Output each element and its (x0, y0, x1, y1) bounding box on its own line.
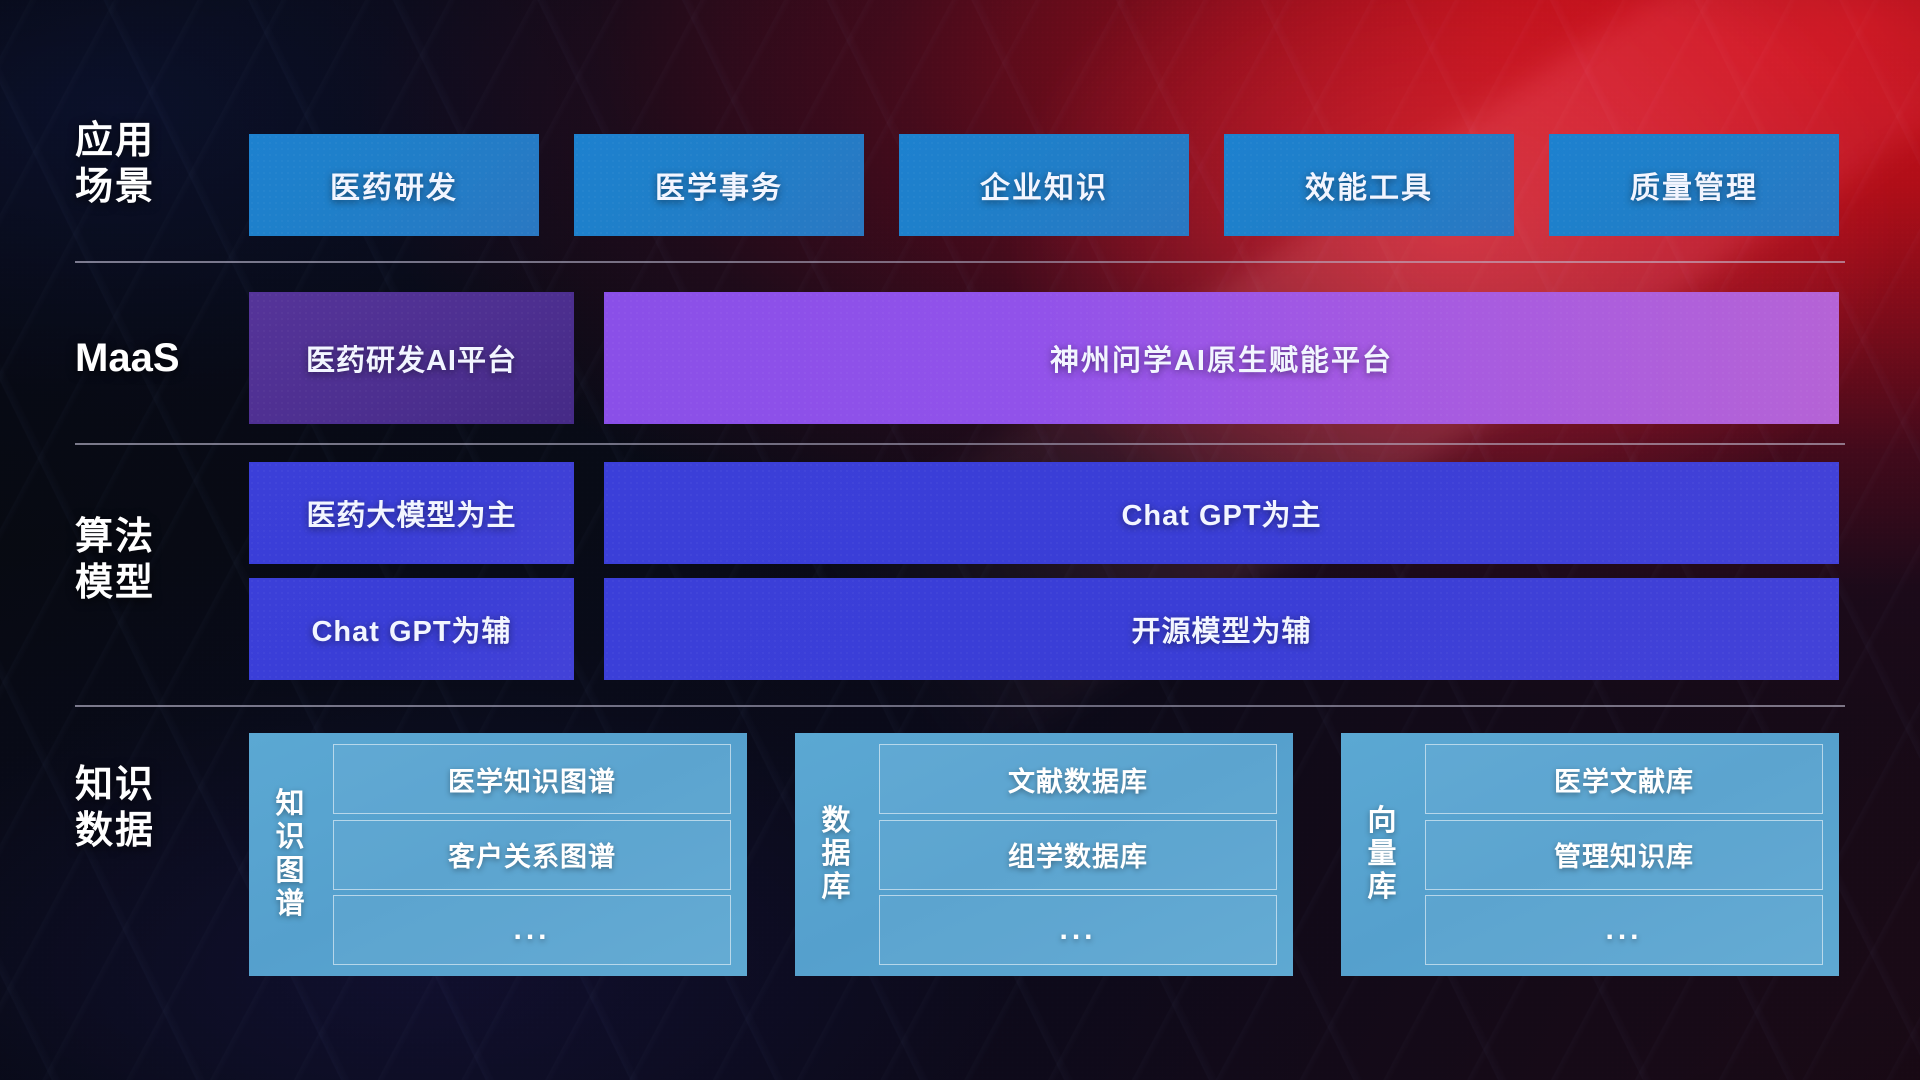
app-card-label: 企业知识 (980, 163, 1108, 207)
title-char: 量 (1367, 839, 1396, 870)
knowledge-item-literature-database[interactable]: 文献数据库 (879, 744, 1277, 814)
algo-card-chatgpt-secondary[interactable]: Chat GPT为辅 (249, 578, 574, 680)
algo-card-label: 医药大模型为主 (306, 492, 516, 534)
app-card-medical-affairs[interactable]: 医学事务 (574, 134, 864, 236)
knowledge-item-customer-relation-graph[interactable]: 客户关系图谱 (333, 820, 731, 890)
title-char: 数 (821, 806, 850, 837)
app-card-label: 效能工具 (1305, 163, 1433, 207)
maas-card-label: 神州问学AI原生赋能平台 (1050, 337, 1393, 379)
architecture-diagram: 应用 场景 医药研发 医学事务 企业知识 效能工具 质量管理 MaaS 医药研发… (0, 0, 1920, 1080)
knowledge-item-list: 文献数据库 组学数据库 ... (879, 744, 1277, 965)
algo-card-label: Chat GPT为辅 (311, 608, 511, 650)
title-char: 知 (275, 789, 304, 820)
title-char: 库 (821, 872, 850, 903)
app-card-enterprise-knowledge[interactable]: 企业知识 (899, 134, 1189, 236)
knowledge-item-medical-knowledge-graph[interactable]: 医学知识图谱 (333, 744, 731, 814)
maas-card-medicine-rd-ai-platform[interactable]: 医药研发AI平台 (249, 292, 574, 424)
row-label-line: 模型 (75, 560, 235, 606)
knowledge-group-title-knowledge-graph: 知 识 图 谱 (261, 789, 319, 920)
app-card-quality-management[interactable]: 质量管理 (1549, 134, 1839, 236)
knowledge-group-vector-store[interactable]: 向 量 库 医学文献库 管理知识库 ... (1341, 733, 1839, 976)
row-label-algorithm-models: 算法 模型 (75, 514, 235, 607)
row-label-line: 数据 (75, 808, 235, 854)
title-char: 图 (275, 856, 304, 887)
maas-card-shenzhou-wenxue-platform[interactable]: 神州问学AI原生赋能平台 (604, 292, 1839, 424)
title-char: 向 (1367, 806, 1396, 837)
app-card-medicine-rd[interactable]: 医药研发 (249, 134, 539, 236)
algo-card-chatgpt-primary[interactable]: Chat GPT为主 (604, 462, 1839, 564)
knowledge-group-title-database: 数 据 库 (807, 806, 865, 904)
row-label-line: 应用 (75, 118, 235, 164)
row-label-line: 知识 (75, 762, 235, 808)
app-card-label: 医药研发 (330, 163, 458, 207)
knowledge-item-omics-database[interactable]: 组学数据库 (879, 820, 1277, 890)
diagram-content: 应用 场景 医药研发 医学事务 企业知识 效能工具 质量管理 MaaS 医药研发… (0, 0, 1920, 1080)
maas-card-label: 医药研发AI平台 (306, 337, 517, 379)
algo-card-medicine-large-model-primary[interactable]: 医药大模型为主 (249, 462, 574, 564)
knowledge-group-knowledge-graph[interactable]: 知 识 图 谱 医学知识图谱 客户关系图谱 ... (249, 733, 747, 976)
title-char: 识 (275, 822, 304, 853)
app-card-label: 医学事务 (655, 163, 783, 207)
knowledge-item-more[interactable]: ... (1425, 895, 1823, 965)
divider-2 (75, 443, 1845, 445)
row-label-line: 算法 (75, 514, 235, 560)
knowledge-item-more[interactable]: ... (879, 895, 1277, 965)
algo-card-label: Chat GPT为主 (1121, 492, 1321, 534)
divider-1 (75, 261, 1845, 263)
knowledge-item-list: 医学文献库 管理知识库 ... (1425, 744, 1823, 965)
title-char: 库 (1367, 872, 1396, 903)
knowledge-item-more[interactable]: ... (333, 895, 731, 965)
app-card-efficiency-tools[interactable]: 效能工具 (1224, 134, 1514, 236)
knowledge-item-management-knowledge-base[interactable]: 管理知识库 (1425, 820, 1823, 890)
row-label-application-scenarios: 应用 场景 (75, 118, 235, 211)
app-card-label: 质量管理 (1630, 163, 1758, 207)
knowledge-group-title-vector-store: 向 量 库 (1353, 806, 1411, 904)
row-label-knowledge-data: 知识 数据 (75, 762, 235, 855)
knowledge-item-medical-literature-library[interactable]: 医学文献库 (1425, 744, 1823, 814)
row-label-maas: MaaS (75, 334, 235, 383)
knowledge-item-list: 医学知识图谱 客户关系图谱 ... (333, 744, 731, 965)
divider-3 (75, 705, 1845, 707)
title-char: 据 (821, 839, 850, 870)
algo-card-label: 开源模型为辅 (1131, 608, 1311, 650)
knowledge-group-database[interactable]: 数 据 库 文献数据库 组学数据库 ... (795, 733, 1293, 976)
title-char: 谱 (275, 889, 304, 920)
row-label-line: MaaS (75, 334, 235, 383)
row-label-line: 场景 (75, 164, 235, 210)
algo-card-opensource-secondary[interactable]: 开源模型为辅 (604, 578, 1839, 680)
